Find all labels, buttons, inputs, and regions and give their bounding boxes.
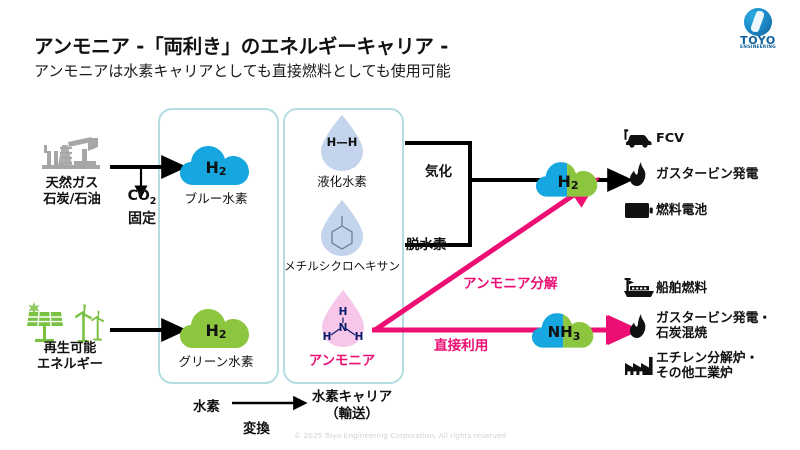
factory-icon (622, 353, 656, 379)
ammonia-product-cloud: NH3 (532, 309, 596, 351)
flame-icon (622, 313, 656, 339)
source-label-fossil-line2: 石炭/石油 (16, 192, 128, 208)
green-hydrogen-formula: H2 (180, 306, 252, 350)
source-label-fossil: 天然ガス 石炭/石油 (16, 176, 128, 208)
co2-text: CO (128, 188, 150, 204)
source-label-renewable: 再生可能 エネルギー (10, 341, 130, 373)
use-item-ship-fuel: 船舶燃料 (622, 275, 771, 301)
ship-icon (622, 275, 656, 301)
svg-text:H: H (355, 331, 364, 343)
solar-wind-icon (24, 300, 106, 346)
ammonia-cracking-label: アンモニア分解 (463, 272, 558, 292)
ammonia-product-formula: NH3 (532, 309, 596, 351)
use-item-industrial-furnace: エチレン分解炉・ その他工業炉 (622, 351, 771, 381)
use-label-ship-fuel: 船舶燃料 (656, 281, 707, 296)
use-label-gas-turbine-cofire: ガスタービン発電・ 石炭混焼 (656, 311, 771, 341)
liquid-hydrogen-droplet: H—H (315, 113, 369, 177)
direct-use-label: 直接利用 (434, 334, 488, 354)
use-item-gas-turbine-cofire: ガスタービン発電・ 石炭混焼 (622, 311, 771, 341)
green-hydrogen-cloud: H2 (180, 306, 252, 350)
page-subtitle: アンモニアは水素キャリアとしても直接燃料としても使用可能 (34, 60, 451, 81)
blue-hydrogen-cloud: H2 (180, 143, 252, 187)
svg-text:H: H (323, 331, 332, 343)
blue-hydrogen-caption: ブルー水素 (166, 188, 266, 207)
conversion-carrier-line1: 水素キャリア (300, 389, 404, 406)
dehydrogenation-label: 脱水素 (406, 233, 447, 253)
flame-icon (622, 161, 656, 187)
ammonia-uses-list: 船舶燃料 ガスタービン発電・ 石炭混焼 (622, 275, 771, 391)
hydrogen-product-formula: H2 (536, 158, 600, 200)
liquid-hydrogen-caption: 液化水素 (292, 172, 392, 190)
source-label-renewable-line2: エネルギー (10, 357, 130, 373)
svg-text:H—H: H—H (327, 135, 358, 149)
battery-icon (622, 197, 656, 223)
use-label-gas-turbine: ガスタービン発電 (656, 167, 758, 182)
conversion-hydrogen-label: 水素 (193, 395, 220, 415)
methylcyclohexane-caption: メチルシクロヘキサン (281, 258, 403, 274)
use-item-fcv: FCV (622, 125, 758, 151)
svg-text:N: N (339, 322, 348, 334)
use-item-gas-turbine: ガスタービン発電 (622, 161, 758, 187)
source-label-fossil-line1: 天然ガス (16, 176, 128, 192)
ammonia-caption: アンモニア (291, 349, 393, 369)
vaporization-label: 気化 (425, 160, 452, 180)
fcv-car-icon (622, 125, 656, 151)
co2-subscript: 2 (150, 196, 157, 207)
conversion-carrier-label: 水素キャリア （輸送） (300, 389, 404, 423)
source-label-renewable-line1: 再生可能 (10, 341, 130, 357)
use-label-fuel-cell: 燃料電池 (656, 203, 707, 218)
page-title: アンモニア -「両利き」のエネルギーキャリア - (34, 30, 448, 59)
use-label-fcv: FCV (656, 131, 684, 146)
blue-hydrogen-formula: H2 (180, 143, 252, 187)
hydrogen-product-cloud: H2 (536, 158, 600, 200)
methylcyclohexane-droplet (315, 198, 369, 262)
logo-subword: ENGINEERING (730, 45, 786, 50)
hydrogen-uses-list: FCV ガスタービン発電 燃料電池 (622, 125, 758, 233)
oil-pumpjack-icon (38, 133, 104, 177)
use-item-fuel-cell: 燃料電池 (622, 197, 758, 223)
toyo-engineering-logo: TOYO ENGINEERING (730, 8, 786, 48)
use-label-industrial-furnace: エチレン分解炉・ その他工業炉 (656, 351, 758, 381)
co2-fixation-label: CO2 固定 (113, 188, 171, 228)
co2-fixation-text: 固定 (113, 208, 171, 228)
footer-copyright: © 2025 Toyo Engineering Corporation, All… (0, 431, 800, 440)
ammonia-droplet: H N H H (315, 288, 371, 354)
conversion-carrier-line2: （輸送） (300, 406, 404, 423)
green-hydrogen-caption: グリーン水素 (161, 351, 271, 370)
infographic-canvas: アンモニア -「両利き」のエネルギーキャリア - アンモニアは水素キャリアとして… (0, 0, 800, 450)
svg-text:H: H (339, 306, 348, 318)
